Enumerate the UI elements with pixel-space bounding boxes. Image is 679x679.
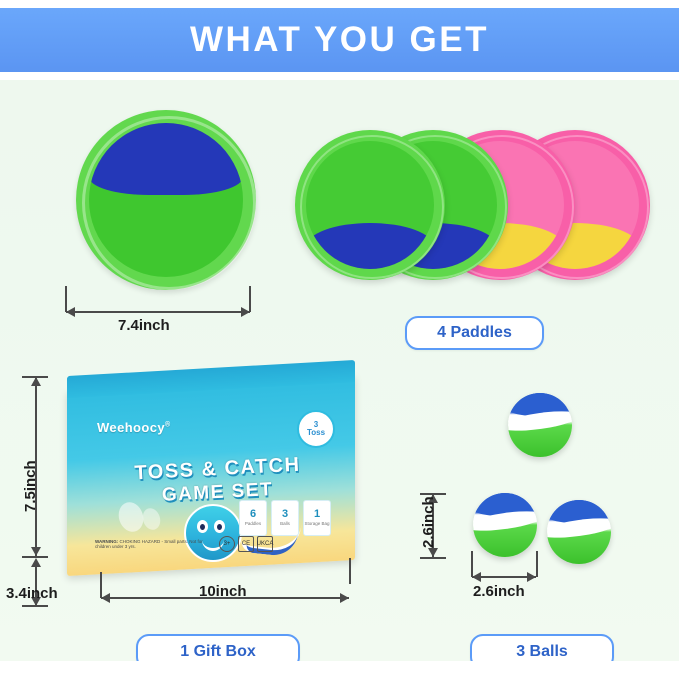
dim-paddle-diameter: 7.4inch [118,317,170,334]
ukca-mark-icon: UKCA [257,536,273,552]
dim-arrow-right [241,307,250,317]
paddle-green-1 [295,130,445,280]
dim-tick-width-right [349,558,351,584]
ce-mark-icon: CE [238,536,254,552]
spec-paddles-label: Paddles [245,522,261,527]
dim-ball-height: 2.6inch [420,496,437,548]
ball-1 [508,393,572,457]
dim-box-height: 7.5inch [22,460,39,512]
label-paddles: 4 Paddles [405,316,544,350]
mascot-eye-right [214,520,225,533]
header: WHAT YOU GET [0,0,679,80]
dim-box-width: 10inch [199,583,247,600]
dim-arrow-depth-up [31,558,41,567]
spec-storage-count: 1 [314,509,320,520]
age-rating-icon: 3+ [219,536,235,552]
dim-arrow-ballw-left [472,572,481,582]
footer-strip [0,661,679,679]
brand-trademark: ® [165,422,171,429]
spec-paddles: 6 Paddles [239,500,267,536]
paddle-large-rim [82,116,256,290]
gift-box-artwork: Weehoocy® 3 Toss TOSS & CATCH GAME SET [67,382,355,568]
toss-badge: 3 Toss [297,410,335,448]
dim-tick-ballw-right [536,551,538,577]
gift-box-front: Weehoocy® 3 Toss TOSS & CATCH GAME SET [67,374,355,576]
dim-arrow-box-up [31,377,41,386]
dim-box-depth: 3.4inch [6,585,58,602]
ball-3 [547,500,611,564]
dim-arrow-left [66,307,75,317]
dim-tick-box-bottom [22,605,48,607]
paddle-large [76,110,256,290]
toss-badge-label: Toss [307,429,325,437]
certification-icons: 3+ CE UKCA [219,536,273,552]
warning-text: WARNING: CHOKING HAZARD - Small parts. N… [95,539,215,550]
spec-balls-count: 3 [282,509,288,520]
dim-arrow-box-down [31,547,41,556]
paddle-green-1-rim [300,135,444,279]
brand-text: Weehoocy [97,420,165,435]
mascot-eye-left [197,520,208,533]
ball-2 [473,493,537,557]
dim-arrow-ball-down [428,548,438,557]
spec-balls: 3 Balls [271,500,299,536]
box-spec-row: 6 Paddles 3 Balls 1 Storage Bag [239,500,331,536]
spec-storage-bag: 1 Storage Bag [303,500,331,536]
dim-arrow-width-right [340,593,349,603]
warning-title: WARNING: [95,539,118,544]
gift-box: Weehoocy® 3 Toss TOSS & CATCH GAME SET [67,368,357,568]
brand-name: Weehoocy® [97,420,171,435]
header-band: WHAT YOU GET [0,8,679,72]
dim-line-paddle [66,311,250,313]
dim-arrow-ballw-right [527,572,536,582]
box-warning-strip: WARNING: CHOKING HAZARD - Small parts. N… [95,534,327,554]
product-infographic: WHAT YOU GET 7.4inch [0,0,679,679]
dim-ball-width: 2.6inch [473,583,525,600]
dim-tick-ball-bottom [420,557,446,559]
page-title: WHAT YOU GET [190,20,489,60]
spec-paddles-count: 6 [250,509,256,520]
dim-arrow-width-left [101,593,110,603]
box-decor-blob-2 [140,506,163,532]
spec-balls-label: Balls [280,522,290,527]
spec-storage-label: Storage Bag [304,522,329,527]
